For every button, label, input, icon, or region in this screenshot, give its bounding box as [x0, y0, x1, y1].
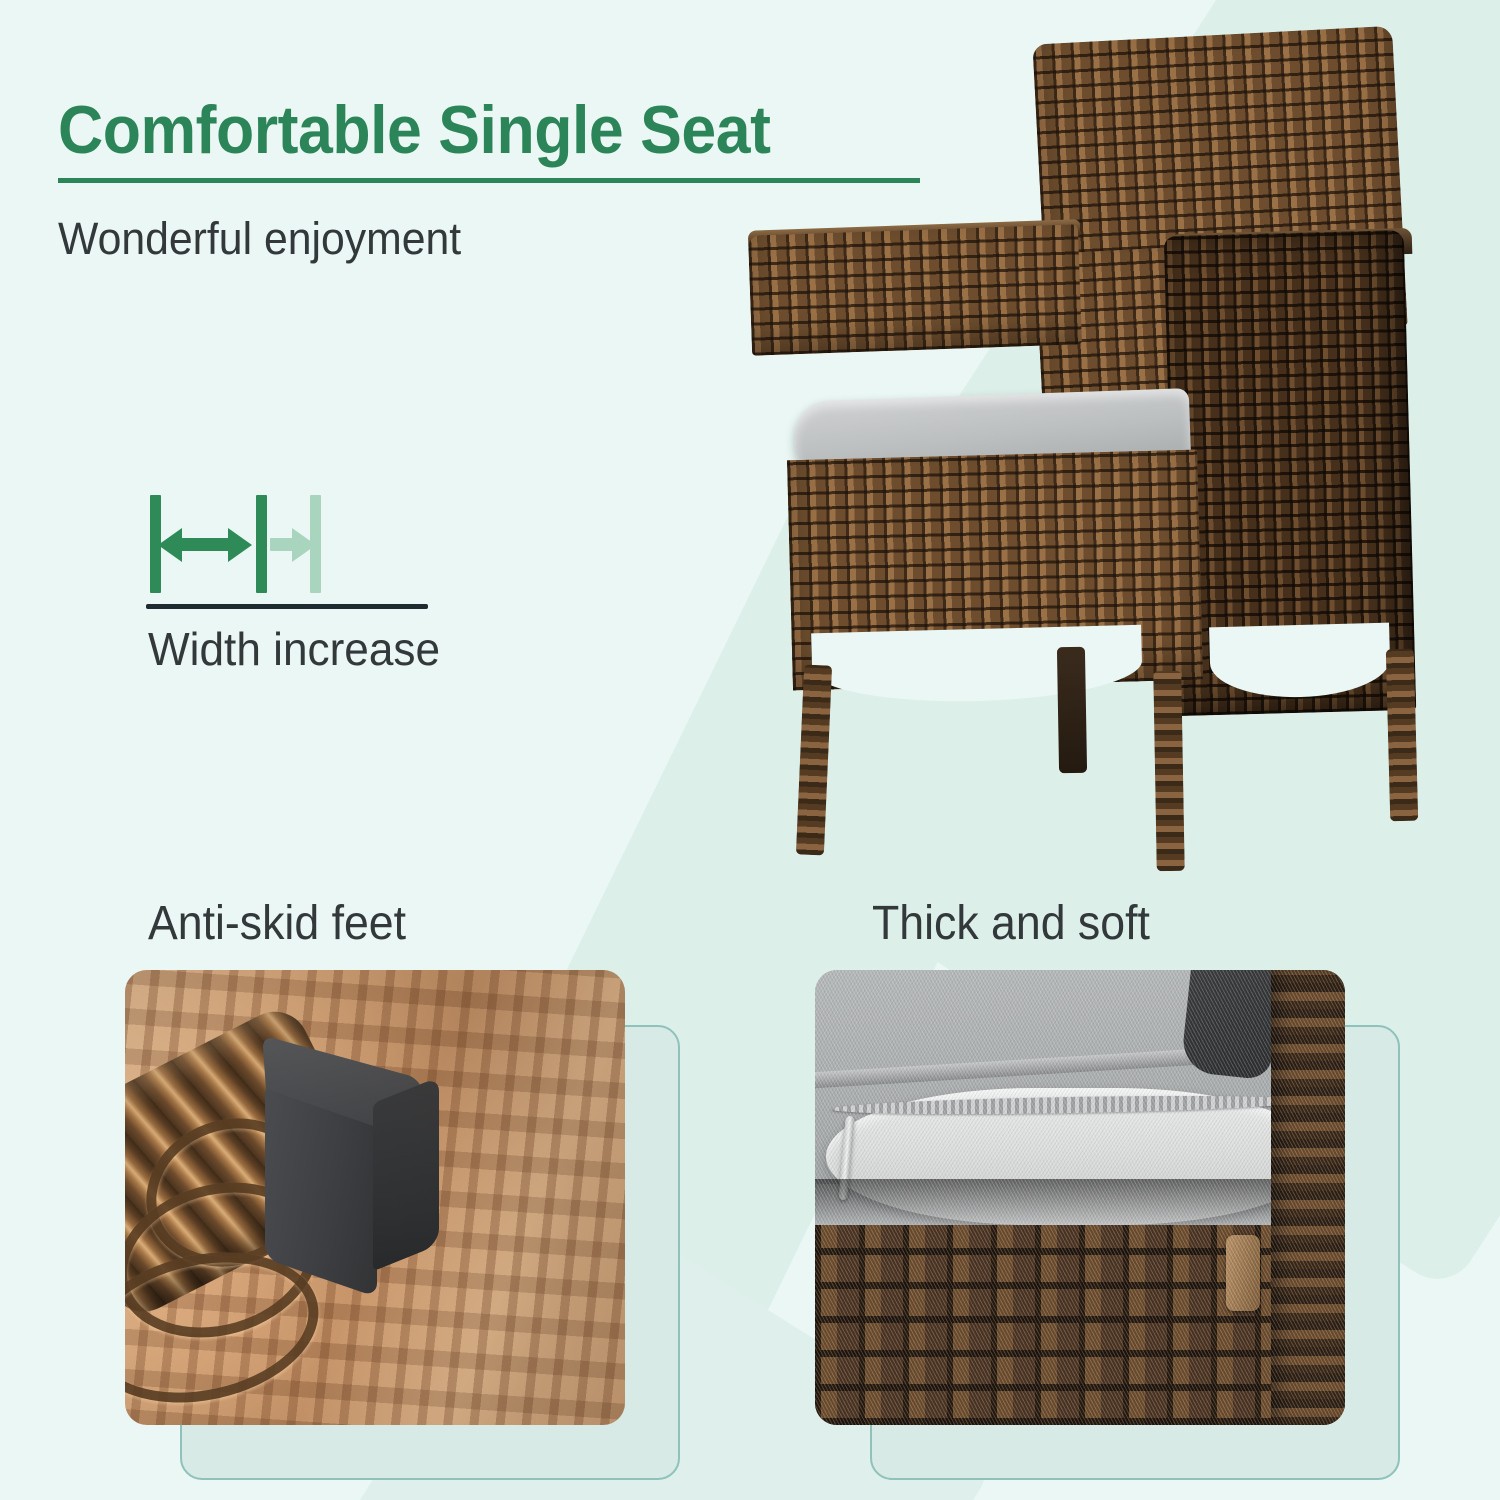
cushion-caption: Thick and soft [872, 896, 1150, 951]
fabric-texture-overlay [815, 970, 1345, 1425]
product-feature-banner: Comfortable Single Seat Wonderful enjoym… [0, 0, 1500, 1500]
page-title: Comfortable Single Seat [58, 96, 770, 164]
width-feature-label: Width increase [148, 622, 440, 676]
cushion-photo [815, 970, 1345, 1425]
width-icon-arrow-head-extend [292, 528, 316, 562]
width-icon-arrow-head-right [228, 528, 252, 562]
chair-leg-rear-right [1386, 649, 1418, 822]
title-underline [58, 178, 920, 183]
anti-skid-caption: Anti-skid feet [148, 896, 406, 951]
hero-chair-photo [740, 35, 1460, 865]
chair-leg-front-right [1153, 671, 1184, 871]
width-feature-divider [146, 604, 428, 609]
cushion-photo-card [815, 970, 1345, 1425]
chair-leg-front-left [796, 664, 832, 855]
chair-left-armrest [748, 224, 1082, 355]
anti-skid-photo [125, 970, 625, 1425]
width-icon-bar-middle [256, 495, 267, 593]
anti-skid-photo-card [125, 970, 625, 1425]
chair-front-apron-cut [811, 625, 1143, 706]
chair-leg-rear-left [1057, 647, 1087, 773]
page-subtitle: Wonderful enjoyment [58, 214, 461, 264]
photo-vignette [125, 970, 625, 1425]
width-icon-arrow-shaft-primary [177, 538, 232, 551]
width-icon-arrow-head-left [158, 528, 182, 562]
width-increase-icon [150, 495, 440, 600]
